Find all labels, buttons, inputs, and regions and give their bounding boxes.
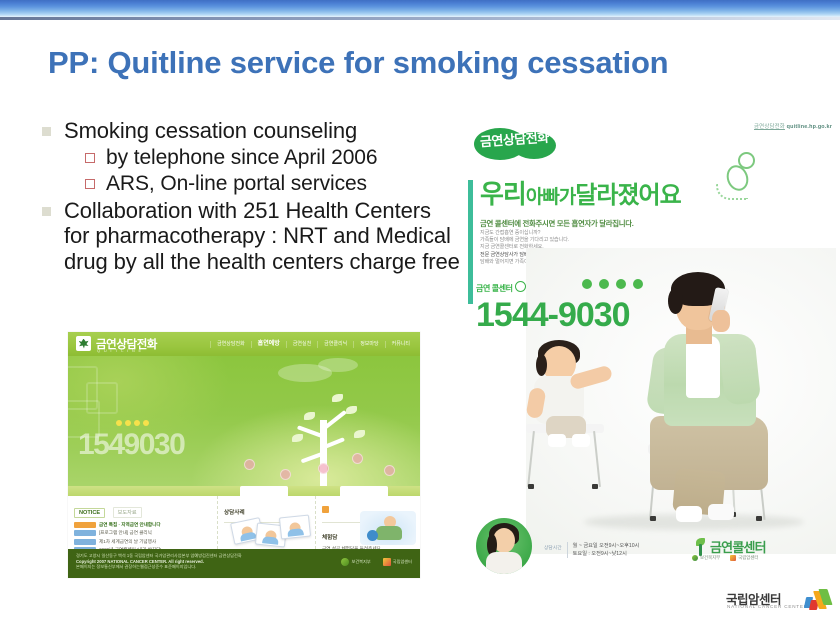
counseling-hours: 상담시간 월 ~ 금요일 오전9시~오후10시 토요일 : 오전9시~낮12시 [544,542,639,558]
nav-item-1[interactable]: 흡연예방 [251,341,286,348]
case-cards-illustration [232,512,312,546]
decorative-dot [352,453,363,464]
poster-call-block: 금연 콜센터 1544-9030 [476,278,676,333]
decorative-dot [318,463,329,474]
chair-foot [528,484,534,489]
nav-item-5[interactable]: 커뮤니티 [385,341,416,348]
man-sock [708,504,734,520]
man-hand [712,310,730,332]
quitline-phone-number: 1544-9030 [476,297,676,333]
decorative-dots [582,279,643,289]
partner-ncc: 국립암센터 [730,555,758,561]
call-center-label-text: 금연 콜센터 [476,284,513,293]
bullet-text: ARS, On-line portal services [106,171,367,197]
poster-url: 금연상담전화 quitline.hp.go.kr [754,122,832,130]
website-tab-strip [68,486,420,496]
bullet-text: by telephone since April 2006 [106,145,377,171]
headline-part-2: 아빠가 [526,187,575,208]
chair-foot [756,516,762,521]
list-item[interactable]: 제1차 세계금연의 날 기념행사 [74,539,211,545]
nav-item-2[interactable]: 금연실천 [286,341,317,348]
poster-accent-bar [468,180,473,304]
square-hollow-bullet-icon [85,153,95,163]
leaf-logo-icon [76,336,91,351]
list-item[interactable]: 금연 특집 · 지역금연 안내합니다 [74,522,211,528]
footer-logos: 보건복지부 국립암센터 [341,558,412,566]
hero-dots [116,420,149,426]
tab-marker[interactable] [340,486,388,496]
child-sock [572,434,590,447]
leaf-sprout-icon [692,538,708,556]
website-nav[interactable]: 금연상담전화 흡연예방 금연실천 금연클리닉 정보마당 커뮤니티 [210,332,416,356]
square-filled-bullet-icon [42,207,51,216]
list-item: Collaboration with 251 Health Centers fo… [42,198,462,275]
website-footer: 경기도 고양시 일산동구 백석 1동 국립암센터 국가암관리사업본부 암예방검진… [68,549,420,578]
list-item: ARS, On-line portal services [42,171,462,197]
hours-line-2: 토요일 : 오전9시~낮12시 [573,550,640,558]
callcenter-logo: 금연콜센터 보건복지부 국립암센터 [692,536,812,566]
top-banner-gradient [0,0,840,17]
poster-url-text: quitline.hp.go.kr [787,124,832,130]
call-center-label: 금연 콜센터 [476,284,526,293]
page-title: PP: Quitline service for smoking cessati… [48,45,808,81]
notice-tab-label[interactable]: NOTICE [74,508,105,518]
list-item[interactable]: [프로그램 안내] 금연 클리닉 [74,530,211,536]
poster-badge: 금연상담전화 [474,126,562,162]
decorative-dot [280,469,291,480]
footer-logo-label: 보건복지부 [351,559,370,565]
hours-line-1: 월 ~ 금요일 오전9시~오후10시 [573,542,640,550]
nav-item-0[interactable]: 금연상담전화 [210,341,251,348]
phone-circle-icon [515,281,526,292]
poster-lead-text: 금연 콜센터에 전화주시면 모든 흡연자가 달라집니다. [480,218,634,229]
partner-label: 국립암센터 [738,555,758,561]
quitline-poster-image: 금연상담전화 quitline.hp.go.kr 금연상담전화 우리아빠가달라졌… [466,118,836,618]
notice-chip [74,539,96,545]
notice-text: 제1차 세계금연의 날 기념행사 [99,539,156,545]
chair-foot [592,484,598,489]
website-hero-banner: 1549030 [68,356,420,486]
square-filled-bullet-icon [42,127,51,136]
phone-doodle-icon [716,152,762,200]
callcenter-logo-text: 금연콜센터 [710,537,766,556]
list-item: Smoking cessation counseling [42,118,462,144]
website-content-panels: NOTICE 보도자료 금연 특집 · 지역금연 안내합니다 [프로그램 안내]… [68,496,420,549]
bullet-text: Smoking cessation counseling [64,118,357,144]
callcenter-partners: 보건복지부 국립암센터 [692,555,758,561]
poster-headline: 우리아빠가달라졌어요 [480,174,740,211]
decorative-dot [384,465,395,476]
divider [567,542,568,558]
notice-chip [74,530,96,536]
square-hollow-bullet-icon [85,179,95,189]
counseling-cases-panel: 상담사례 [218,496,316,549]
man-sock [676,506,702,522]
headline-part-3: 달라졌어요 [575,182,680,209]
press-tab-label[interactable]: 보도자료 [113,507,142,518]
tree-leaf [304,412,315,420]
nav-item-3[interactable]: 금연클리닉 [317,341,353,348]
child-sock [548,434,566,447]
tree-leaf [332,394,343,402]
footer-logo-ncc: 국립암센터 [383,558,412,566]
nav-item-4[interactable]: 정보마당 [353,341,384,348]
tree-leaf [346,406,357,414]
testimonial-panel: 체험담 금연 성공 체험담을 들려주세요 [316,496,420,549]
bullet-text: Collaboration with 251 Health Centers fo… [64,198,462,275]
panel-title: 체험담 [322,535,337,541]
case-card [279,514,311,539]
counselor-avatar [476,518,532,574]
ncc-checkmark-icon [805,589,831,611]
quitline-website-screenshot: 금연상담전화 Q U I T L I N E 금연상담전화 흡연예방 금연실천 … [68,332,420,578]
top-banner-hairline [0,17,840,20]
tree-leaf [354,430,365,438]
notice-chip [74,522,96,528]
notice-text: 금연 특집 · 지역금연 안내합니다 [99,522,161,528]
chair-foot [650,516,656,521]
notice-panel: NOTICE 보도자료 금연 특집 · 지역금연 안내합니다 [프로그램 안내]… [68,496,218,549]
list-item: by telephone since April 2006 [42,145,462,171]
badge-icon [322,506,329,513]
decorative-cloud [318,358,358,372]
tree-leaf [292,434,303,442]
decorative-dot [244,459,255,470]
hours-label: 상담시간 [544,542,562,551]
man-undershirt [686,336,720,398]
website-brand-subtitle: Q U I T L I N E [97,348,142,353]
website-header: 금연상담전화 Q U I T L I N E 금연상담전화 흡연예방 금연실천 … [68,332,420,356]
partner-mohw: 보건복지부 [692,555,720,561]
footer-logo-label: 국립암센터 [393,559,412,565]
hero-phone-number: 1549030 [78,428,184,462]
poster-url-prefix: 금연상담전화 [754,124,785,130]
headline-part-1: 우리 [480,179,526,209]
man-arm [719,338,761,405]
testimonial-illustration [360,511,416,545]
tab-marker[interactable] [240,486,288,496]
footer-logo-mohw: 보건복지부 [341,558,370,566]
decorative-square [86,382,118,414]
child-hair-side [536,354,547,376]
partner-label: 보건복지부 [700,555,720,561]
notice-text: [프로그램 안내] 금연 클리닉 [99,530,152,536]
ncc-logo-english: NATIONAL CANCER CENTER [727,604,808,609]
bullet-list: Smoking cessation counseling by telephon… [42,118,462,275]
national-cancer-center-logo: 국립암센터 NATIONAL CANCER CENTER [726,589,834,621]
